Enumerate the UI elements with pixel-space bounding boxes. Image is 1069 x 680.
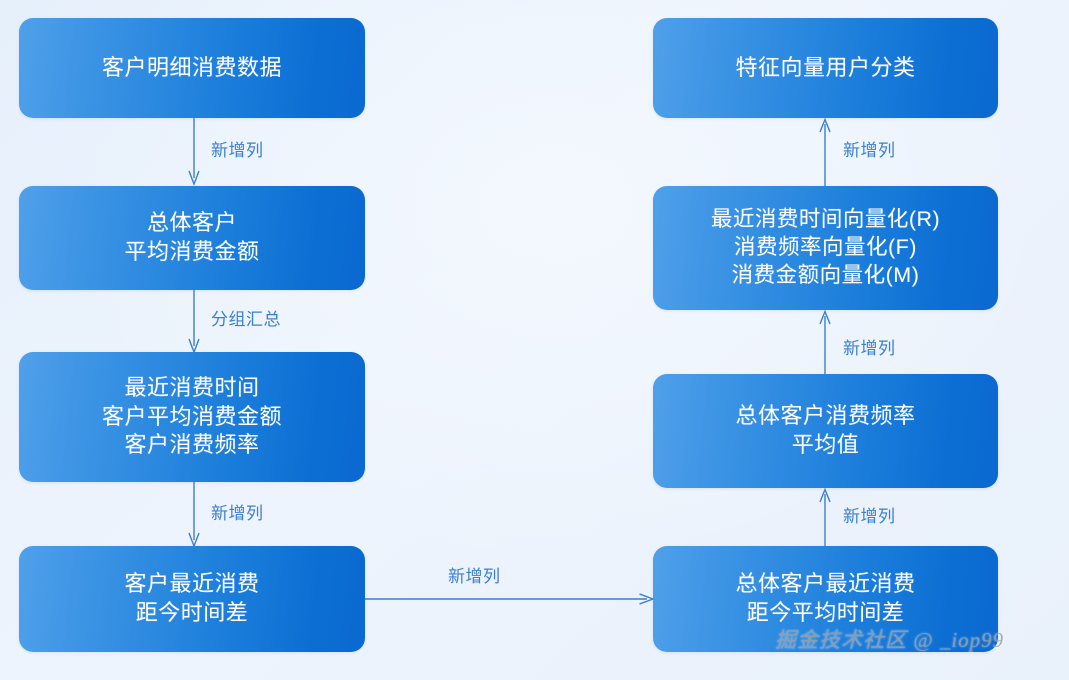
arrow-down-icon [184,118,204,186]
arrow-up-icon [815,310,835,374]
node-label: 最近消费时间 客户平均消费金额 客户消费频率 [102,374,282,460]
diagram-canvas: 客户明细消费数据 总体客户 平均消费金额 最近消费时间 客户平均消费金额 客户消… [0,0,1069,680]
node-label: 客户明细消费数据 [102,54,282,83]
node-customer-detail-data[interactable]: 客户明细消费数据 [19,18,365,118]
node-feature-vector-segmentation[interactable]: 特征向量用户分类 [653,18,998,118]
node-rfm-vectorization[interactable]: 最近消费时间向量化(R) 消费频率向量化(F) 消费金额向量化(M) [653,186,998,310]
watermark: 掘金技术社区 @ _iop99 [775,624,1004,654]
node-label: 总体客户 平均消费金额 [124,209,259,266]
connector-left-1 [184,118,204,186]
edge-label-left-3: 新增列 [211,505,264,522]
node-label: 总体客户最近消费 距今平均时间差 [735,570,915,627]
connector-right-1 [815,118,835,186]
node-label: 总体客户消费频率 平均值 [735,402,915,459]
node-label: 特征向量用户分类 [735,54,915,83]
node-customer-metrics[interactable]: 最近消费时间 客户平均消费金额 客户消费频率 [19,352,365,482]
arrow-right-icon [365,589,655,609]
arrow-down-icon [184,290,204,354]
connector-left-3 [184,482,204,548]
edge-label-left-1: 新增列 [211,142,264,159]
connector-left-2 [184,290,204,354]
arrow-down-icon [184,482,204,548]
arrow-up-icon [815,118,835,186]
node-label: 最近消费时间向量化(R) 消费频率向量化(F) 消费金额向量化(M) [711,206,940,290]
node-overall-frequency-mean[interactable]: 总体客户消费频率 平均值 [653,374,998,488]
arrow-up-icon [815,488,835,546]
edge-label-right-1: 新增列 [843,142,896,159]
connector-right-3 [815,488,835,546]
connector-right-2 [815,310,835,374]
node-customer-recency-gap[interactable]: 客户最近消费 距今时间差 [19,546,365,652]
edge-label-cross-1: 新增列 [448,568,501,585]
edge-label-right-2: 新增列 [843,340,896,357]
connector-cross-1 [365,589,655,609]
edge-label-left-2: 分组汇总 [211,311,281,328]
node-overall-avg-amount[interactable]: 总体客户 平均消费金额 [19,186,365,290]
edge-label-right-3: 新增列 [843,508,896,525]
node-label: 客户最近消费 距今时间差 [124,570,259,627]
